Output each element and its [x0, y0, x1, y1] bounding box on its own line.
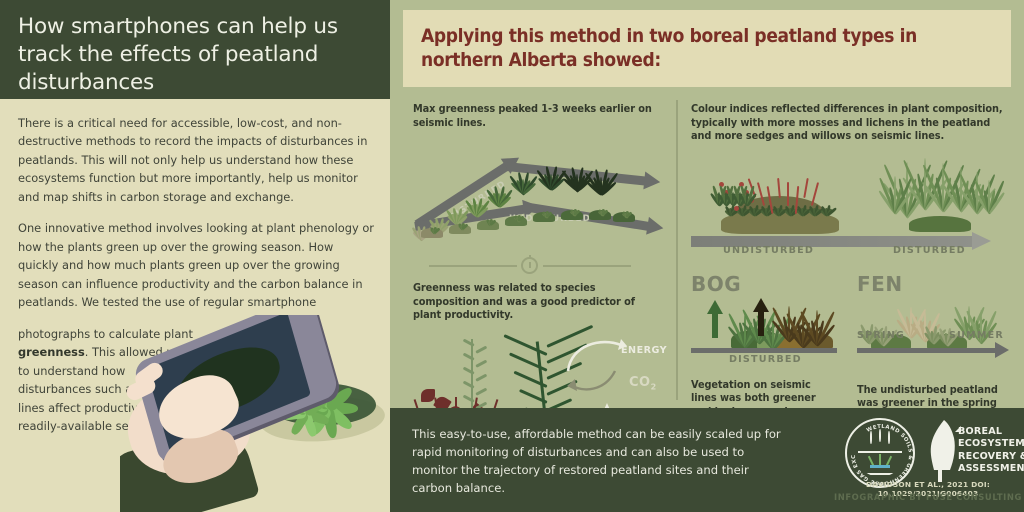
grass-tuft — [624, 210, 625, 217]
grass-tuft — [959, 162, 960, 212]
grass-tuft — [801, 204, 802, 216]
smoke-icon-3 — [888, 431, 890, 444]
section-divider-clock — [417, 254, 649, 278]
greenness-emphasis: greenness — [18, 345, 85, 359]
grass-tuft — [765, 204, 766, 216]
grass-tuft — [729, 204, 730, 216]
sporophyte-icon — [803, 178, 808, 198]
co2-curve-arrow — [565, 365, 621, 399]
grass-tuft — [753, 204, 754, 216]
bog-vegetation — [691, 298, 837, 350]
grass-tuft — [432, 226, 433, 233]
page-title: How smartphones can help us track the ef… — [18, 13, 372, 97]
grass-tuft — [599, 166, 600, 195]
soil-base-line — [858, 473, 902, 475]
panel-c-blurb: Colour indices reflected differences in … — [691, 103, 1003, 144]
grass-tuft — [497, 184, 498, 206]
moss-mound-illustration — [705, 160, 855, 232]
energy-label: ENERGY — [621, 345, 667, 356]
credit-text: INFOGRAPHIC BY FUSE CONSULTING — [832, 492, 1024, 502]
smartphone-illustration — [120, 315, 390, 512]
soil-surface-line — [858, 451, 902, 453]
grass-tuft — [460, 222, 461, 229]
fen-title: FEN — [857, 272, 1017, 296]
bera-line-3: RECOVERY & — [958, 451, 1024, 463]
grass-tuft — [549, 164, 550, 190]
panel-a-blurb: Max greenness peaked 1-3 weeks earlier o… — [413, 103, 655, 130]
fen-illustration — [857, 298, 1017, 356]
grass-tuft — [975, 168, 976, 214]
fen-vegetation — [857, 298, 997, 350]
up-arrow-icon — [707, 300, 723, 314]
grass-tuft — [544, 210, 545, 217]
paragraph-1: There is a critical need for accessible,… — [18, 114, 375, 206]
grass-tuft — [455, 206, 456, 225]
grass-tuft — [923, 152, 924, 210]
grass-tuft — [745, 184, 746, 206]
disturbed-undisturbed-diagram: DISTURBED UNDISTURBED — [413, 138, 665, 248]
grass-tuft — [516, 214, 517, 221]
axis-label-undisturbed: UNDISTURBED — [723, 245, 814, 256]
fen-axis-arrowhead — [995, 342, 1009, 358]
column-divider — [676, 100, 678, 400]
infographic-page: How smartphones can help us track the ef… — [0, 0, 1024, 512]
grass-tuft — [893, 172, 894, 214]
grass-tuft — [488, 218, 489, 225]
sedge-clump-illustration — [887, 152, 1007, 232]
grass-tuft — [600, 208, 601, 215]
grass-tuft — [909, 304, 910, 338]
sporophyte-icon — [787, 182, 789, 206]
thin-leaf — [475, 345, 487, 353]
grass-tuft — [945, 326, 946, 346]
panel-b-blurb: Greenness was related to species composi… — [413, 282, 655, 323]
smoke-icon-1 — [870, 431, 872, 444]
paragraph-2: One innovative method involves looking a… — [18, 219, 375, 311]
grass-tuft — [787, 302, 788, 342]
grass-tuft — [789, 204, 790, 216]
grass-tuft — [931, 324, 932, 344]
axis-label-disturbed: DISTURBED — [893, 245, 966, 256]
colour-indices-diagram: UNDISTURBED DISTURBED — [691, 152, 1016, 256]
smoke-icon-2 — [879, 429, 881, 442]
up-arrow-icon — [753, 298, 769, 312]
grass-tuft — [419, 224, 420, 240]
wetland-lab-logo-inner — [856, 429, 904, 477]
water-table-icon — [870, 465, 890, 468]
divider-line-left — [429, 265, 517, 267]
right-panel-heading: Applying this method in two boreal peatl… — [421, 24, 936, 73]
left-column: How smartphones can help us track the ef… — [0, 0, 390, 512]
grass-tuft — [815, 306, 816, 346]
thin-leaf — [475, 359, 487, 367]
clock-icon — [521, 257, 538, 274]
grass-tuft — [777, 204, 778, 216]
findings-column-left: Max greenness peaked 1-3 weeks earlier o… — [413, 103, 665, 449]
sedge-branch — [509, 352, 548, 371]
grass-tuft — [475, 196, 476, 217]
grass-tuft — [813, 204, 814, 216]
grass-tuft — [825, 204, 826, 216]
red-leaf — [421, 389, 435, 402]
thin-leaf — [475, 373, 487, 381]
co2-label: CO2 — [629, 375, 657, 392]
bera-line-4: ASSESSMENT — [958, 463, 1024, 475]
bera-logo-text: BOREAL ECOSYSTEM RECOVERY & ASSESSMENT — [958, 426, 1024, 476]
logo-group: WETLAND SOILS & GREENHOUSE GAS EXCHANGE … — [832, 412, 1024, 512]
findings-column-right: Colour indices reflected differences in … — [691, 103, 1016, 432]
grass-tuft — [923, 308, 924, 342]
grass-tuft — [987, 176, 988, 214]
grass-tuft — [521, 170, 522, 194]
right-panel-heading-box: Applying this method in two boreal peatl… — [403, 10, 1011, 87]
fen-axis-line — [857, 348, 997, 353]
moss-mound — [909, 216, 971, 232]
bera-line-1: BOREAL — [958, 426, 1024, 438]
footer-bar: This easy-to-use, affordable method can … — [390, 408, 1024, 512]
grass-tuft — [575, 164, 576, 191]
sporophyte-icon — [777, 178, 781, 198]
title-banner: How smartphones can help us track the ef… — [0, 0, 390, 99]
grass-tuft — [572, 208, 573, 215]
bog-axis-line — [691, 348, 837, 353]
fen-axis-label-spring: SPRING — [857, 330, 905, 341]
grass-tuft — [771, 310, 772, 350]
fen-axis-label-summer: SUMMER — [949, 330, 1004, 341]
conclusion-text: This easy-to-use, affordable method can … — [412, 426, 792, 498]
wetland-lab-logo: WETLAND SOILS & GREENHOUSE GAS EXCHANGE … — [845, 418, 915, 488]
bog-illustration — [691, 298, 843, 356]
bog-title: BOG — [691, 272, 843, 296]
divider-line-right — [543, 265, 631, 267]
bera-line-2: ECOSYSTEM — [958, 438, 1024, 450]
thin-leaf — [475, 387, 487, 395]
berry-icon — [734, 206, 739, 211]
